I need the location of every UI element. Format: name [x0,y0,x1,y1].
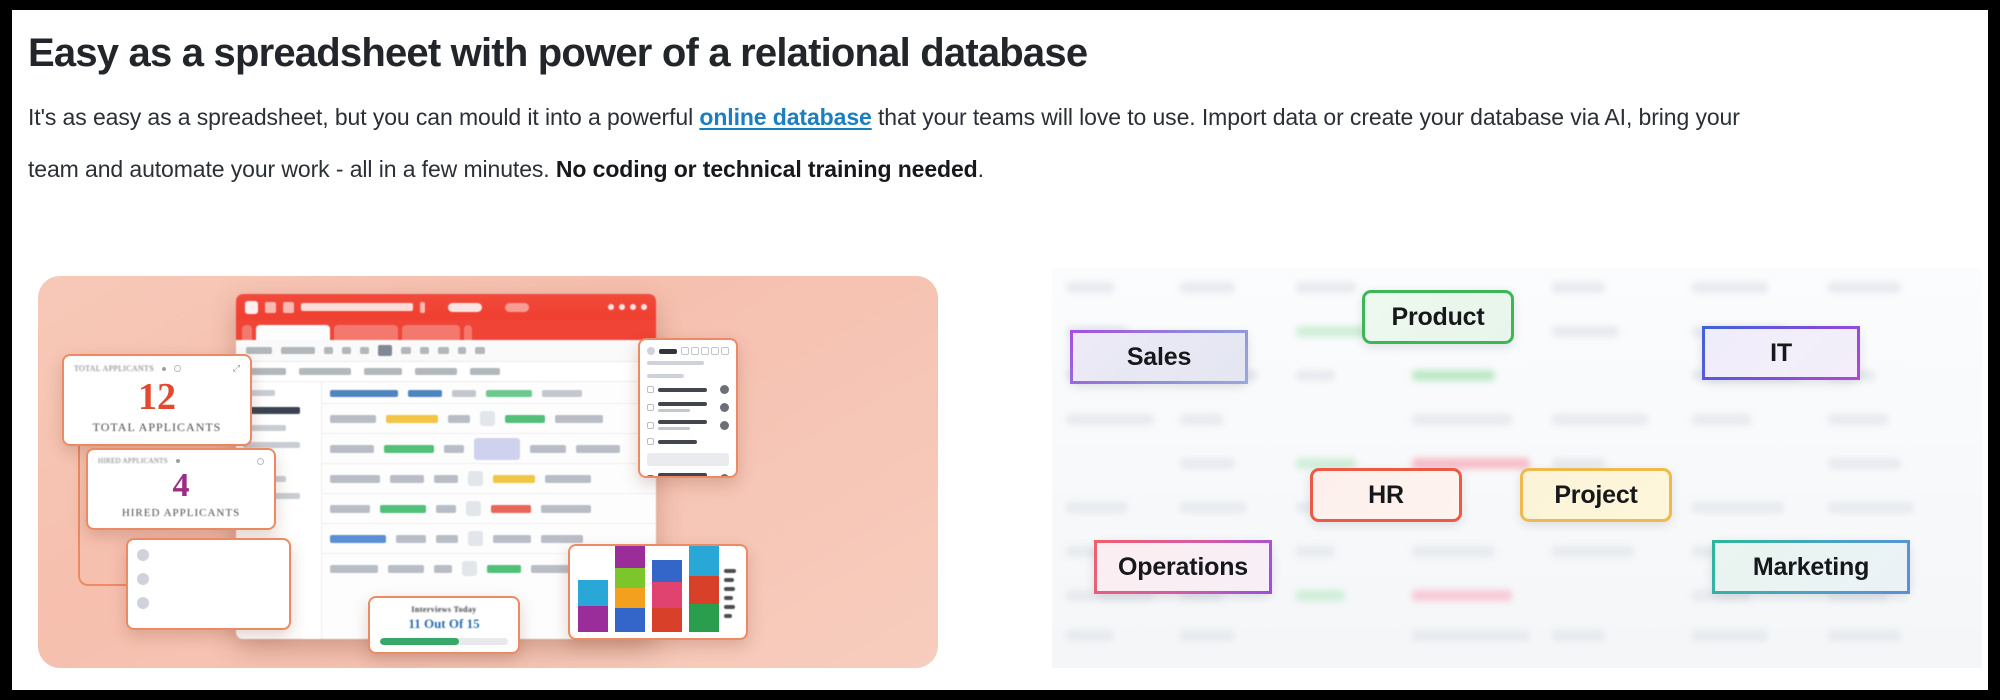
backdrop-cell [1066,282,1114,293]
grid-icon [265,302,276,313]
backdrop-cell [1552,282,1605,293]
app-title-text [301,303,413,311]
detail-task-row[interactable] [647,402,729,412]
chart-bar [615,546,645,632]
app-tab-strip[interactable] [236,320,656,340]
app-logo-icon [245,301,258,314]
column-header-stage[interactable] [408,390,442,397]
stat-card-value: 12 [64,376,250,420]
stat-card-total-applicants[interactable]: TOTAL APPLICANTS ⤢ 12 TOTAL APPLICANTS [62,354,252,446]
collage-background: TOTAL APPLICANTS ⤢ 12 TOTAL APPLICANTS H… [38,276,938,668]
table-row[interactable] [322,493,656,523]
share-button[interactable] [448,303,482,312]
avatar [720,421,729,430]
view-selector[interactable] [299,368,351,375]
backdrop-cell [1296,546,1335,557]
more-options-icon[interactable] [176,459,180,463]
chart-bar-segment [652,608,682,632]
page-title: Easy as a spreadsheet with power of a re… [28,30,1928,77]
field-selector[interactable] [246,368,286,375]
info-icon [420,302,425,313]
column-header-score[interactable] [452,390,476,397]
expand-icon[interactable]: ⤢ [233,363,240,374]
chart-bar [689,546,719,632]
department-tag-project[interactable]: Project [1520,468,1672,522]
backdrop-cell [1296,282,1356,293]
chart-bar-segment [615,568,645,588]
stat-card-title: TOTAL APPLICANTS [74,364,154,373]
tab-add[interactable] [464,325,472,340]
toolbar-file-menu[interactable] [246,347,272,354]
department-tag-label: Project [1554,481,1637,510]
toolbar-settings-icon[interactable] [475,347,485,354]
stat-card-hired-applicants[interactable]: HIRED APPLICANTS 4 HIRED APPLICANTS [86,448,276,530]
checkbox-icon[interactable] [647,404,654,411]
department-tag-hr[interactable]: HR [1310,468,1462,522]
stat-card-title: HIRED APPLICANTS [98,457,168,465]
backdrop-cell [1552,630,1605,641]
tab-applicants[interactable] [334,325,398,340]
avatar [720,474,729,479]
backdrop-cell [1692,282,1768,293]
record-icon [647,347,655,355]
department-tag-label: Marketing [1753,553,1869,582]
copy-block: Easy as a spreadsheet with power of a re… [28,30,1928,195]
table-row[interactable] [322,433,656,463]
chart-bar-segment [578,580,608,606]
backdrop-cell [1180,458,1235,469]
refresh-icon[interactable] [257,458,264,465]
backdrop-cell [1296,326,1366,337]
department-tag-operations[interactable]: Operations [1094,540,1272,594]
avatar [720,385,729,394]
comment-input[interactable] [647,453,729,466]
checkbox-icon[interactable] [647,475,654,479]
detail-task-row[interactable] [647,473,729,478]
left-image-panel: TOTAL APPLICANTS ⤢ 12 TOTAL APPLICANTS H… [28,268,948,668]
backdrop-cell [1828,458,1901,469]
stat-card-caption: HIRED APPLICANTS [88,507,274,528]
avatar [137,573,149,585]
lock-icon [283,302,294,313]
description-text-part-1: It's as easy as a spreadsheet, but you c… [28,104,699,130]
toolbar-italic-icon[interactable] [342,347,351,354]
detail-panel-controls[interactable] [681,347,729,355]
department-tag-sales[interactable]: Sales [1070,330,1248,384]
detail-panel-title [659,349,677,354]
interviews-progress-card[interactable]: Interviews Today 11 Out Of 15 [368,596,520,654]
backdrop-cell [1412,590,1512,601]
grid-header-row [322,386,656,403]
avatar [137,549,149,561]
toolbar-sort-icon[interactable] [420,347,429,354]
backdrop-cell [1692,630,1768,641]
detail-task-row[interactable] [647,420,729,430]
tab-dashboard[interactable] [256,325,330,340]
toolbar-image-icon[interactable] [378,345,392,356]
group-selector[interactable] [415,368,457,375]
progress-card-title: Interviews Today [380,605,508,614]
backdrop-cell [1180,414,1223,425]
search-box[interactable] [470,368,500,375]
stat-card-value: 4 [88,467,274,507]
description-emphasis: No coding or technical training needed [556,156,978,182]
backdrop-cell [1552,546,1634,557]
backdrop-cell [1066,502,1128,513]
backdrop-cell [1180,630,1235,641]
stat-card-header: TOTAL APPLICANTS ⤢ [64,356,250,376]
backdrop-cell [1066,414,1154,425]
toolbar-comment-icon[interactable] [438,347,449,354]
tab-interviews[interactable] [402,325,460,340]
toolbar-view-menu[interactable] [281,347,315,354]
avatar [720,403,729,412]
chart-bar-segment [689,546,719,576]
department-tag-label: Product [1391,303,1484,332]
chart-bar-segment [615,546,645,568]
applicant-list-card[interactable] [126,538,291,630]
department-tag-label: HR [1368,481,1404,510]
stat-card-caption: TOTAL APPLICANTS [64,420,250,444]
backdrop-cell [1180,502,1246,513]
detail-panel-subtitle [647,361,704,365]
checkbox-icon[interactable] [647,422,654,429]
chart-bar-segment [652,560,682,582]
media-row: TOTAL APPLICANTS ⤢ 12 TOTAL APPLICANTS H… [12,268,1988,680]
department-tag-label: IT [1770,339,1792,368]
menu-button[interactable] [505,303,529,312]
toolbar-filter-icon[interactable] [401,347,411,354]
department-tag-label: Sales [1127,343,1191,372]
detail-task-row[interactable] [647,385,729,394]
department-tag-marketing[interactable]: Marketing [1712,540,1910,594]
backdrop-cell [1412,370,1495,381]
table-row[interactable] [322,403,656,433]
backdrop-cell [1066,630,1114,641]
column-header-owner[interactable] [542,390,582,397]
record-detail-panel[interactable] [638,338,738,478]
detail-panel-header [647,347,729,355]
department-tag-it[interactable]: IT [1702,326,1860,380]
backdrop-cell [1412,546,1495,557]
description-text-part-3: . [978,156,984,182]
avatar [137,597,149,609]
applicants-by-stage-chart-card[interactable] [568,544,748,640]
checkbox-icon[interactable] [647,438,654,445]
detail-task-row[interactable] [647,438,729,445]
checkbox-icon[interactable] [647,386,654,393]
backdrop-cell [1692,414,1751,425]
backdrop-cell [1552,326,1619,337]
column-header-name[interactable] [330,390,398,397]
chart-bar-segment [689,604,719,632]
column-header-status[interactable] [486,390,532,397]
backdrop-cell [1828,282,1901,293]
tab-home[interactable] [242,325,252,340]
chart-bar-segment [652,582,682,608]
toolbar-link-icon[interactable] [458,347,466,354]
stat-card-header: HIRED APPLICANTS [88,450,274,467]
chart-legend [719,554,738,632]
backdrop-cell [1412,630,1530,641]
page-description: It's as easy as a spreadsheet, but you c… [28,91,1788,195]
more-options-icon[interactable] [162,367,166,371]
backdrop-cell [1180,282,1235,293]
chart-bar-segment [578,606,608,632]
right-image-panel: SalesProductITHRProjectOperationsMarketi… [1052,268,1982,668]
toolbar-bold-icon[interactable] [324,347,333,354]
chart-bar-segment [689,576,719,604]
backdrop-cell [1828,630,1901,641]
list-item[interactable] [137,573,280,585]
table-row[interactable] [322,463,656,493]
backdrop-cell [1412,414,1512,425]
stacked-bar-chart [578,554,719,632]
backdrop-cell [1296,590,1345,601]
progress-card-value: 11 Out Of 15 [380,616,508,632]
app-titlebar [236,294,656,320]
detail-panel-meta [647,374,684,378]
app-toolbar-secondary[interactable] [236,362,656,382]
filter-selector[interactable] [364,368,402,375]
chart-bar [652,560,682,632]
app-toolbar-primary[interactable] [236,340,656,362]
backdrop-cell [1552,414,1648,425]
list-item[interactable] [137,597,280,609]
department-tag-product[interactable]: Product [1362,290,1514,344]
toolbar-underline-icon[interactable] [360,347,369,354]
backdrop-cell [1296,370,1335,381]
backdrop-cell [1828,502,1914,513]
chart-bar [578,580,608,632]
department-tag-label: Operations [1118,553,1248,582]
progress-bar-fill [380,638,459,645]
backdrop-cell [1692,502,1784,513]
backdrop-cell [1828,414,1888,425]
window-controls[interactable] [608,304,647,310]
chart-bar-segment [615,588,645,608]
refresh-icon[interactable] [174,365,181,372]
progress-bar [380,638,508,645]
page-root: Easy as a spreadsheet with power of a re… [12,10,1988,690]
list-item[interactable] [137,549,280,561]
online-database-link[interactable]: online database [699,104,871,130]
tags-background: SalesProductITHRProjectOperationsMarketi… [1052,268,1982,668]
chart-bar-segment [615,608,645,632]
